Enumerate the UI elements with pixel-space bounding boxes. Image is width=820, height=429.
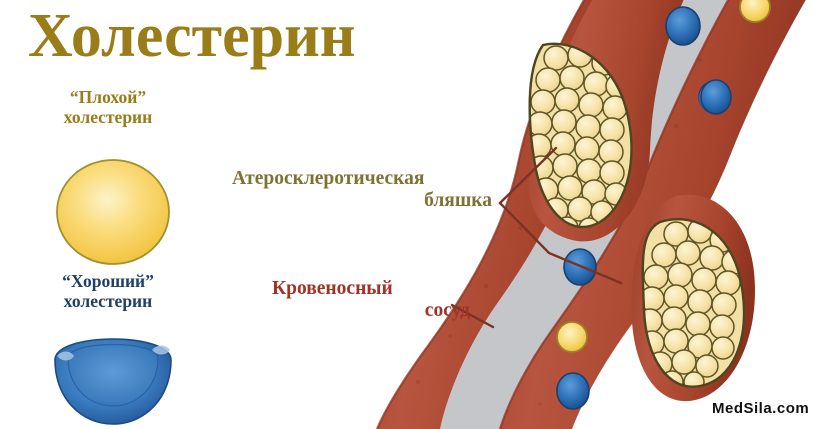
legend-icon-bad-cholesterol bbox=[57, 160, 169, 264]
yellow-sphere-icon bbox=[57, 160, 169, 264]
ldl-particle bbox=[740, 0, 770, 22]
legend-bad-cholesterol-label: “Плохой”холестерин bbox=[18, 88, 198, 127]
annotation-vessel-line2: сосуд bbox=[272, 300, 484, 322]
legend-bad-line1: “Плохой” bbox=[70, 87, 146, 107]
watermark: MedSila.com bbox=[712, 401, 809, 418]
page-title: Холестерин bbox=[28, 2, 356, 71]
annotation-plaque-line2: бляшка bbox=[232, 190, 500, 212]
legend-icon-good-cholesterol bbox=[55, 339, 171, 424]
hdl-particle bbox=[701, 80, 731, 114]
legend-good-cholesterol-label: “Хороший”холестерин bbox=[18, 272, 198, 311]
legend-good-line1: “Хороший” bbox=[62, 271, 154, 291]
legend-bad-line2: холестерин bbox=[64, 107, 152, 127]
annotation-plaque-line1: Атеросклеротическая bbox=[232, 168, 500, 190]
ldl-particle bbox=[557, 322, 587, 352]
blood-vessel bbox=[377, 0, 814, 429]
annotation-vessel-label: Кровеносныйсосуд bbox=[272, 278, 484, 322]
legend-good-line2: холестерин bbox=[64, 291, 152, 311]
annotation-vessel-line1: Кровеносный bbox=[272, 278, 484, 300]
infographic-root: Холестерин “Плохой”холестерин “Хороший”х… bbox=[0, 0, 820, 429]
annotation-plaque-label: Атеросклеротическаябляшка bbox=[232, 168, 500, 212]
hdl-particle bbox=[557, 373, 589, 409]
hdl-particle bbox=[666, 7, 700, 45]
